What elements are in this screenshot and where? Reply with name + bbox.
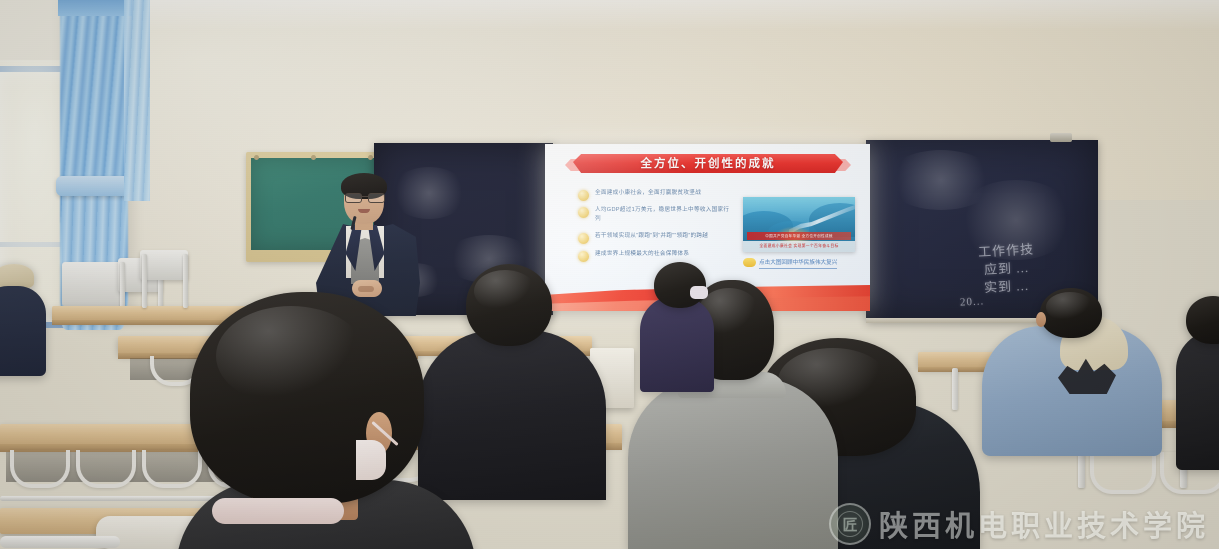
desk-top <box>52 306 252 321</box>
slide-photo-thumbnail: 中国共产党百年华诞 全方位开创性成就 全面建成小康社会 实现第一个百年奋斗目标 <box>743 197 855 252</box>
chair-leg <box>183 254 188 308</box>
student-front-left <box>190 292 424 504</box>
student-head <box>654 262 706 308</box>
desk-leg <box>952 368 958 410</box>
chair-frame <box>142 450 202 488</box>
lecturer-hand-shadow <box>358 286 374 292</box>
board-mount-clip <box>1050 133 1072 142</box>
student-head <box>466 264 552 346</box>
bullet-dot-icon <box>578 207 589 218</box>
board-screw <box>311 155 316 160</box>
face-mask <box>690 286 708 299</box>
student-head <box>1040 288 1102 338</box>
chair-back <box>62 262 122 306</box>
face-mask <box>356 440 386 480</box>
photo-caption-red: 中国共产党百年华诞 全方位开创性成就 <box>747 232 851 240</box>
bullet-dot-icon <box>578 190 589 201</box>
chalk-line-4: 20... <box>960 295 985 308</box>
photo-caption-white: 全面建成小康社会 实现第一个百年奋斗目标 <box>743 241 855 252</box>
board-screw <box>368 155 373 160</box>
slide-bullet: 全面建成小康社会，全面打赢脱贫攻坚战 <box>578 189 733 197</box>
slide-bullet: 人均GDP超过1万美元，稳居世界上中等收入国家行列 <box>578 206 733 223</box>
bullet-dot-icon <box>578 233 589 244</box>
curtain-tieback <box>56 176 130 196</box>
chair-back <box>140 250 188 280</box>
bullet-dot-icon <box>578 251 589 262</box>
chair-frame <box>1090 452 1156 494</box>
slide-bullet: 建成世界上规模最大的社会保障体系 <box>578 250 733 258</box>
chair-rail <box>0 496 230 501</box>
board-screw <box>254 155 259 160</box>
slide-bullet-list: 全面建成小康社会，全面打赢脱贫攻坚战 人均GDP超过1万美元，稳居世界上中等收入… <box>578 189 733 267</box>
student-hat <box>0 264 34 288</box>
slide-bullet-text: 全面建成小康社会，全面打赢脱贫攻坚战 <box>595 190 701 196</box>
slide-title: 全方位、开创性的成就 <box>573 155 843 173</box>
slide-link-text: 点击大图回顾中华民族伟大复兴 <box>759 258 837 269</box>
curtain-rod-header <box>58 0 132 16</box>
face-mask-lower <box>212 498 344 524</box>
slide-bullet: 若干领域实现从“跟跑”到“并跑”“领跑”的跨越 <box>578 232 733 240</box>
slide-bullet-text: 人均GDP超过1万美元，稳居世界上中等收入国家行列 <box>595 207 729 221</box>
student-mid-left <box>640 296 714 392</box>
chair-rail <box>0 536 120 548</box>
chair-leg <box>142 254 147 308</box>
chair-frame <box>10 450 70 488</box>
classroom-photo: 工作作技 应到 ... 实到 ... 20... 全方位、开创性的成就 全面建成… <box>0 0 1219 549</box>
student-center <box>628 378 838 549</box>
play-button-icon <box>743 258 756 267</box>
slide-link[interactable]: 点击大图回顾中华民族伟大复兴 <box>743 258 870 269</box>
student-mid-center <box>418 330 606 500</box>
glasses-icon <box>345 193 383 201</box>
chair-leg <box>120 262 125 310</box>
slide-bullet-text: 若干领域实现从“跟跑”到“并跑”“领跑”的跨越 <box>595 233 708 239</box>
student-far-left-hat <box>0 286 46 376</box>
student-ear <box>1036 312 1046 327</box>
window-curtain-secondary <box>124 0 150 201</box>
slide-bullet-text: 建成世界上规模最大的社会保障体系 <box>595 251 689 257</box>
chalk-line-3: 实到 ... <box>984 275 1030 296</box>
student-far-right <box>1176 330 1219 470</box>
ceiling-highlight <box>0 0 1219 30</box>
chair-frame <box>76 450 136 488</box>
